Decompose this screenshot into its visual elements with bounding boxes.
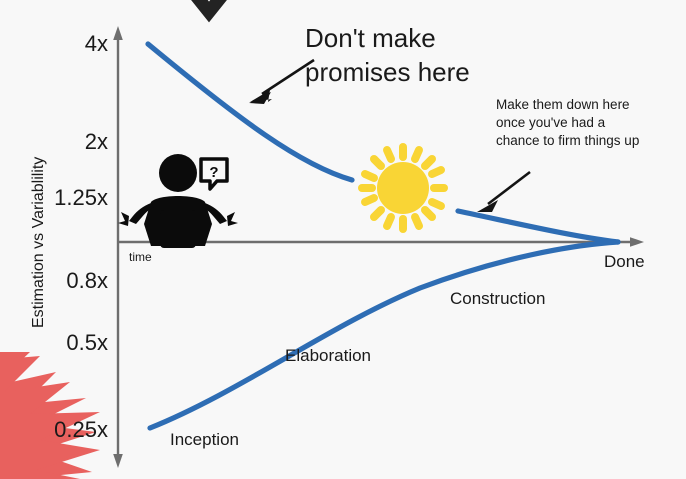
chevron-down-icon (185, 0, 233, 12)
y-tick-label-1-25x: 1.25x (14, 185, 108, 211)
note-line-1: Make them down here (496, 96, 630, 114)
sun-icon (362, 147, 444, 229)
cone-of-uncertainty-figure: ? Est (0, 0, 686, 479)
y-tick-label-0-25x: 0.25x (14, 417, 108, 443)
done-label: Done (604, 252, 645, 272)
y-axis (113, 26, 123, 468)
headline-line-2: promises here (305, 56, 470, 89)
headline-line-1: Don't make (305, 22, 436, 55)
note-line-2: once you've had a (496, 114, 605, 132)
shrug-person-icon: ? (118, 154, 238, 248)
y-axis-title: Estimation vs Variablility (30, 157, 48, 328)
y-tick-label-4x: 4x (14, 31, 108, 57)
upper-bound-curve-tail (458, 211, 618, 242)
red-starburst-badge (0, 300, 100, 479)
y-tick-label-0-5x: 0.5x (14, 330, 108, 356)
y-tick-label-0-8x: 0.8x (14, 268, 108, 294)
svg-text:?: ? (209, 164, 218, 181)
note-arrow (477, 172, 530, 212)
note-line-3: chance to firm things up (496, 132, 639, 150)
x-axis-label: time (129, 250, 152, 264)
phase-label-elaboration: Elaboration (285, 346, 371, 366)
phase-label-inception: Inception (170, 430, 239, 450)
phase-label-construction: Construction (450, 289, 545, 309)
lower-bound-curve (150, 242, 618, 428)
y-tick-label-2x: 2x (14, 129, 108, 155)
